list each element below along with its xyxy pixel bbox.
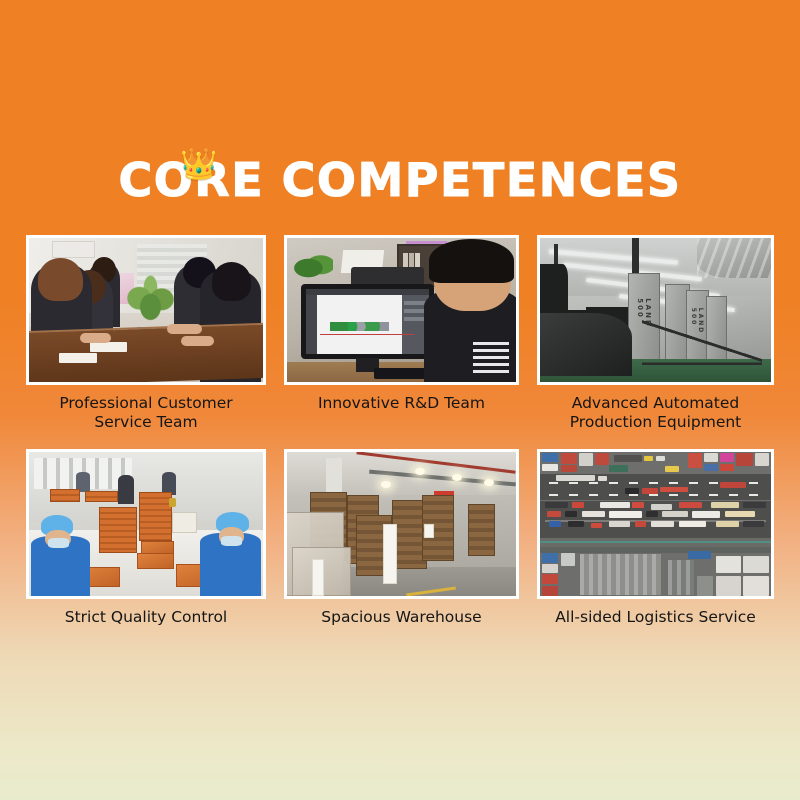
photo-strict-quality-control[interactable] <box>26 449 266 599</box>
photo-spacious-warehouse[interactable] <box>284 449 519 599</box>
photo-advanced-automated-production-equipment[interactable]: LAND 500 LAND 500 <box>537 235 774 385</box>
crown-icon: 👑 <box>178 148 220 182</box>
caption-customer-service: Professional Customer Service Team <box>26 394 266 432</box>
grid-row-bottom: Strict Quality Control <box>26 449 774 627</box>
grid-row-top: Professional Customer Service Team <box>26 235 774 432</box>
caption-logistics-service: All-sided Logistics Service <box>537 608 774 627</box>
caption-quality-control: Strict Quality Control <box>26 608 266 627</box>
caption-production-equipment: Advanced Automated Production Equipment <box>537 394 774 432</box>
photo-innovative-rd-team[interactable] <box>284 235 519 385</box>
competence-card-rd-team[interactable]: Innovative R&D Team <box>284 235 519 432</box>
photo-all-sided-logistics-service[interactable] <box>537 449 774 599</box>
caption-rd-team: Innovative R&D Team <box>284 394 519 413</box>
competence-card-production-equipment[interactable]: LAND 500 LAND 500 Advanced Automated Pro… <box>537 235 774 432</box>
competence-card-customer-service[interactable]: Professional Customer Service Team <box>26 235 266 432</box>
photo-professional-customer-service-team[interactable] <box>26 235 266 385</box>
competences-grid: Professional Customer Service Team <box>26 235 774 627</box>
competence-card-warehouse[interactable]: Spacious Warehouse <box>284 449 519 627</box>
competence-card-logistics-service[interactable]: All-sided Logistics Service <box>537 449 774 627</box>
competence-card-quality-control[interactable]: Strict Quality Control <box>26 449 266 627</box>
page-header: 👑 CORE COMPETENCES <box>0 150 800 210</box>
core-competences-banner: 👑 CORE COMPETENCES <box>0 0 800 800</box>
caption-warehouse: Spacious Warehouse <box>284 608 519 627</box>
